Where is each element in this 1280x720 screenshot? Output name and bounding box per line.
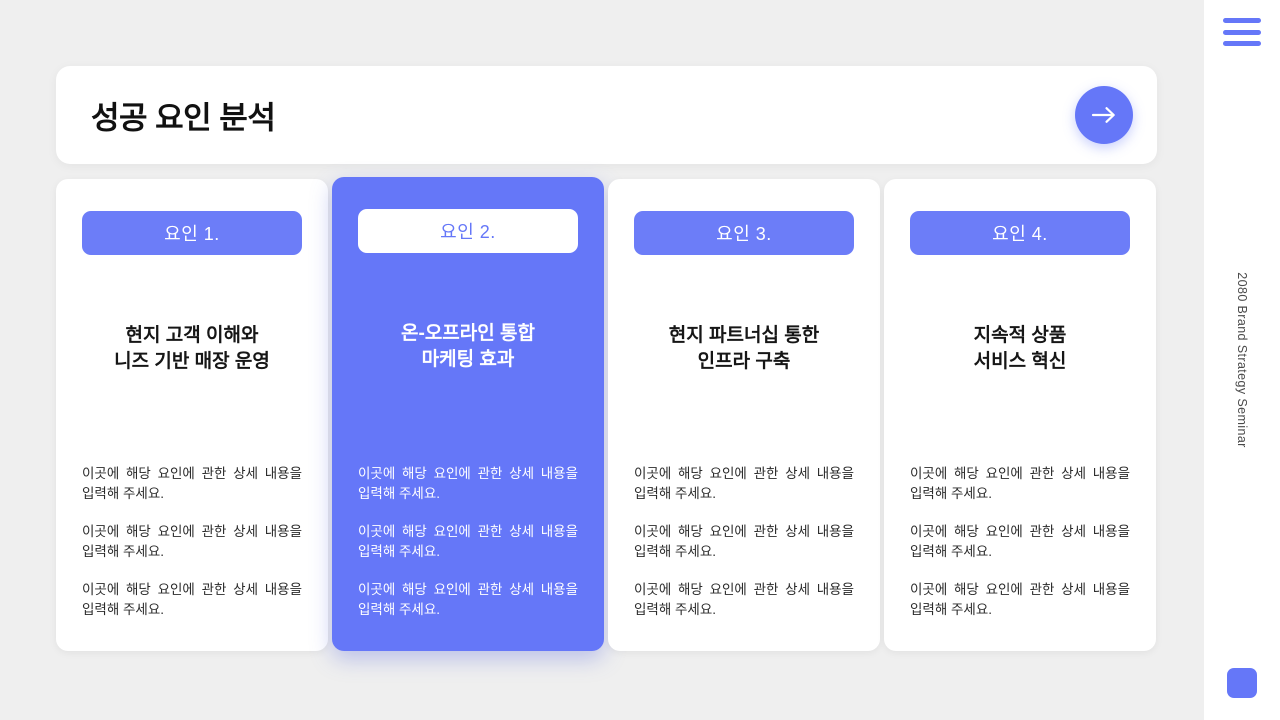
factor-badge-3: 요인 3. bbox=[634, 211, 854, 255]
factor-paragraph: 이곳에 해당 요인에 관한 상세 내용을 입력해 주세요. bbox=[82, 464, 302, 505]
factor-paragraph: 이곳에 해당 요인에 관한 상세 내용을 입력해 주세요. bbox=[358, 522, 578, 563]
color-swatch-button[interactable] bbox=[1227, 668, 1257, 698]
slide-canvas: 성공 요인 분석 요인 1. 현지 고객 이해와 니즈 기반 매장 운영 이곳에… bbox=[0, 0, 1204, 720]
menu-bar-bottom bbox=[1223, 41, 1261, 46]
right-rail: 2080 Brand Strategy Seminar bbox=[1204, 0, 1280, 720]
factor-body-2: 이곳에 해당 요인에 관한 상세 내용을 입력해 주세요. 이곳에 해당 요인에… bbox=[358, 464, 578, 651]
factor-paragraph: 이곳에 해당 요인에 관한 상세 내용을 입력해 주세요. bbox=[358, 464, 578, 505]
header-card: 성공 요인 분석 bbox=[56, 66, 1157, 164]
seminar-label: 2080 Brand Strategy Seminar bbox=[1235, 272, 1249, 447]
factor-paragraph: 이곳에 해당 요인에 관한 상세 내용을 입력해 주세요. bbox=[910, 580, 1130, 621]
factor-paragraph: 이곳에 해당 요인에 관한 상세 내용을 입력해 주세요. bbox=[358, 580, 578, 621]
factor-paragraph: 이곳에 해당 요인에 관한 상세 내용을 입력해 주세요. bbox=[82, 580, 302, 621]
arrow-right-icon bbox=[1091, 105, 1117, 125]
factor-paragraph: 이곳에 해당 요인에 관한 상세 내용을 입력해 주세요. bbox=[910, 522, 1130, 563]
factor-paragraph: 이곳에 해당 요인에 관한 상세 내용을 입력해 주세요. bbox=[634, 580, 854, 621]
factor-badge-4: 요인 4. bbox=[910, 211, 1130, 255]
factor-paragraph: 이곳에 해당 요인에 관한 상세 내용을 입력해 주세요. bbox=[910, 464, 1130, 505]
factor-card-4[interactable]: 요인 4. 지속적 상품 서비스 혁신 이곳에 해당 요인에 관한 상세 내용을… bbox=[884, 179, 1156, 651]
factor-paragraph: 이곳에 해당 요인에 관한 상세 내용을 입력해 주세요. bbox=[634, 464, 854, 505]
factor-body-3: 이곳에 해당 요인에 관한 상세 내용을 입력해 주세요. 이곳에 해당 요인에… bbox=[634, 464, 854, 651]
factor-body-4: 이곳에 해당 요인에 관한 상세 내용을 입력해 주세요. 이곳에 해당 요인에… bbox=[910, 464, 1130, 651]
next-slide-button[interactable] bbox=[1075, 86, 1133, 144]
factor-card-3[interactable]: 요인 3. 현지 파트너십 통한 인프라 구축 이곳에 해당 요인에 관한 상세… bbox=[608, 179, 880, 651]
factor-paragraph: 이곳에 해당 요인에 관한 상세 내용을 입력해 주세요. bbox=[634, 522, 854, 563]
factor-badge-1: 요인 1. bbox=[82, 211, 302, 255]
factor-badge-2: 요인 2. bbox=[358, 209, 578, 253]
factor-heading-3: 현지 파트너십 통한 인프라 구축 bbox=[634, 323, 854, 375]
menu-bar-top bbox=[1223, 18, 1261, 23]
menu-bar-middle bbox=[1223, 30, 1261, 35]
factor-paragraph: 이곳에 해당 요인에 관한 상세 내용을 입력해 주세요. bbox=[82, 522, 302, 563]
factor-card-2[interactable]: 요인 2. 온-오프라인 통합 마케팅 효과 이곳에 해당 요인에 관한 상세 … bbox=[332, 177, 604, 651]
factor-heading-1: 현지 고객 이해와 니즈 기반 매장 운영 bbox=[82, 323, 302, 375]
factor-card-1[interactable]: 요인 1. 현지 고객 이해와 니즈 기반 매장 운영 이곳에 해당 요인에 관… bbox=[56, 179, 328, 651]
factor-heading-4: 지속적 상품 서비스 혁신 bbox=[910, 323, 1130, 375]
factor-heading-2: 온-오프라인 통합 마케팅 효과 bbox=[358, 321, 578, 373]
page-title: 성공 요인 분석 bbox=[91, 93, 275, 138]
factor-body-1: 이곳에 해당 요인에 관한 상세 내용을 입력해 주세요. 이곳에 해당 요인에… bbox=[82, 464, 302, 651]
hamburger-menu-icon[interactable] bbox=[1223, 18, 1261, 46]
factor-cards-row: 요인 1. 현지 고객 이해와 니즈 기반 매장 운영 이곳에 해당 요인에 관… bbox=[56, 179, 1157, 653]
